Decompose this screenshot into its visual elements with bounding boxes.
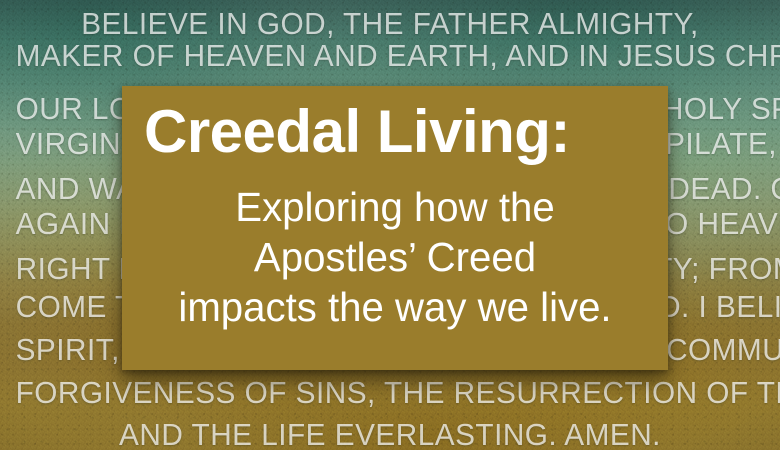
creed-line: AND THE LIFE EVERLASTING. AMEN. <box>16 419 765 450</box>
creed-line: FORGIVENESS OF SINS, THE RESURRECTION OF… <box>16 377 765 408</box>
title-card-panel: Creedal Living: Exploring how the Apostl… <box>122 86 668 370</box>
page-title: Creedal Living: <box>144 100 570 163</box>
subtitle-line: Exploring how the <box>127 182 662 232</box>
creed-line: MAKER OF HEAVEN AND EARTH, AND IN JESUS … <box>16 40 765 71</box>
subtitle-line: impacts the way we live. <box>127 282 662 332</box>
page-subtitle: Exploring how the Apostles’ Creed impact… <box>122 182 668 332</box>
subtitle-line: Apostles’ Creed <box>127 232 662 282</box>
creed-line: BELIEVE IN GOD, THE FATHER ALMIGHTY, <box>16 8 765 39</box>
slide-canvas: BELIEVE IN GOD, THE FATHER ALMIGHTY, MAK… <box>0 0 780 450</box>
